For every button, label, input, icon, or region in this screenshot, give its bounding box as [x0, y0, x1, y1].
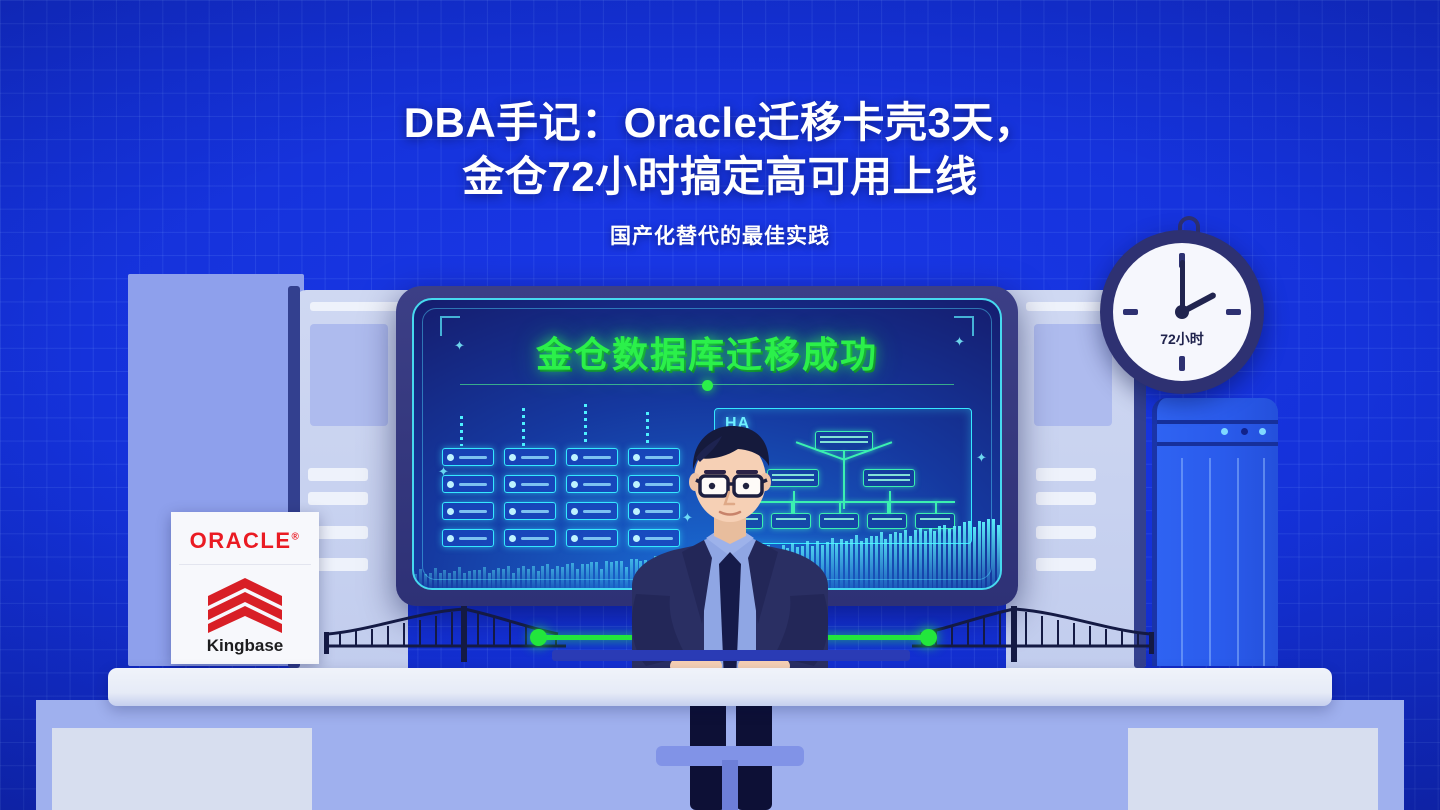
waveform-bar [973, 527, 976, 588]
waveform-bar [453, 571, 456, 588]
drip-line [522, 408, 525, 446]
oracle-wordmark: ORACLE [190, 528, 292, 553]
waveform-bar [458, 567, 461, 588]
waveform-bar [532, 566, 535, 588]
headline-line-2: 金仓72小时搞定高可用上线 [0, 150, 1440, 204]
waveform-bar [488, 573, 491, 588]
waveform-bar [963, 522, 966, 588]
waveform-bar [992, 519, 995, 588]
migration-link-endpoint-left [530, 629, 547, 646]
server-unit [566, 448, 618, 466]
vendor-logo-card: ORACLE® Kingbase [171, 512, 319, 664]
wall-strip [308, 492, 368, 505]
wall-strip [308, 468, 368, 481]
waveform-bar [566, 564, 569, 588]
waveform-bar [507, 566, 510, 588]
server-unit [566, 475, 618, 493]
waveform-bar [419, 569, 422, 588]
waveform-bar [551, 569, 554, 588]
waveform-bar [556, 566, 559, 588]
waveform-bar [595, 562, 598, 588]
desk-top [108, 668, 1332, 706]
waveform-bar [855, 535, 858, 588]
drip-line [584, 404, 587, 446]
waveform-bar [414, 574, 417, 588]
waveform-bar [605, 561, 608, 588]
wall-clock: 72小时 [1100, 230, 1264, 394]
waveform-bar [997, 525, 1000, 588]
sparkle-icon: ✦ [954, 334, 965, 350]
tower-vent [1263, 458, 1265, 666]
sparkle-icon: ✦ [976, 450, 987, 466]
tower-led-icon [1221, 428, 1228, 435]
waveform-bar [865, 538, 868, 588]
waveform-bar [982, 522, 985, 588]
clock-tick [1226, 309, 1241, 315]
waveform-bar [463, 573, 466, 588]
waveform-bar [929, 528, 932, 588]
wall-panel [310, 324, 388, 426]
drip-line [460, 416, 463, 446]
dba-person-illustration [612, 418, 848, 680]
server-unit [504, 475, 556, 493]
waveform-bar [497, 568, 500, 588]
waveform-bar [581, 564, 584, 588]
clock-tick [1123, 309, 1138, 315]
waveform-bar [948, 529, 951, 588]
wall-panel [1034, 324, 1112, 426]
screen-success-title: 金仓数据库迁移成功 [414, 326, 1000, 378]
desk-inset-right [1128, 728, 1378, 810]
waveform-bar [492, 570, 495, 588]
waveform-bar [517, 568, 520, 588]
waveform-bar [600, 569, 603, 588]
waveform-bar [522, 566, 525, 588]
waveform-bar [448, 573, 451, 588]
tower-vent [1181, 458, 1183, 666]
waveform-bar [546, 564, 549, 588]
waveform-bar [537, 571, 540, 588]
tower-led-icon [1241, 428, 1248, 435]
clock-face: 72小时 [1113, 243, 1251, 381]
suspension-bridge-right [900, 606, 1156, 662]
chair-post [722, 760, 738, 810]
server-unit [442, 475, 494, 493]
wall-strip [1036, 468, 1096, 481]
kingbase-logo-text: Kingbase [171, 636, 319, 656]
promo-illustration-canvas: DBA手记：Oracle迁移卡壳3天， 金仓72小时搞定高可用上线 国产化替代的… [0, 0, 1440, 810]
clock-duration-label: 72小时 [1113, 329, 1251, 349]
kingbase-logo-icon [202, 576, 288, 634]
waveform-bar [884, 539, 887, 588]
migration-link-endpoint-right [920, 629, 937, 646]
waveform-bar [561, 567, 564, 588]
waveform-bar [502, 569, 505, 588]
desk-inset-left [52, 728, 312, 810]
waveform-bar [889, 534, 892, 588]
waveform-bar [468, 571, 471, 588]
headline-block: DBA手记：Oracle迁移卡壳3天， 金仓72小时搞定高可用上线 国产化替代的… [0, 96, 1440, 250]
waveform-bar [880, 532, 883, 588]
waveform-bar [933, 531, 936, 588]
tower-band [1157, 420, 1278, 424]
tower-led-icon [1259, 428, 1266, 435]
tower-vent [1237, 458, 1239, 666]
waveform-bar [434, 568, 437, 588]
waveform-bar [443, 570, 446, 588]
waveform-bar [924, 531, 927, 588]
server-unit [442, 448, 494, 466]
waveform-bar [870, 536, 873, 588]
ha-node-tier2 [863, 469, 915, 487]
keyboard[interactable] [552, 650, 910, 661]
waveform-bar [909, 536, 912, 588]
screen-title-dot [702, 380, 713, 391]
waveform-bar [478, 570, 481, 588]
clock-tick [1179, 356, 1185, 371]
waveform-bar [899, 533, 902, 588]
oracle-logo-text: ORACLE® [171, 528, 319, 554]
waveform-bar [586, 564, 589, 588]
server-tower [1152, 398, 1278, 666]
waveform-bar [914, 530, 917, 588]
headline-line-1: DBA手记：Oracle迁移卡壳3天， [0, 96, 1440, 150]
waveform-bar [894, 532, 897, 588]
waveform-bar [919, 528, 922, 588]
waveform-bar [850, 539, 853, 588]
headline-subtitle: 国产化替代的最佳实践 [0, 220, 1440, 250]
waveform-bar [953, 526, 956, 588]
waveform-bar [943, 525, 946, 588]
waveform-bar [860, 541, 863, 588]
waveform-bar [473, 570, 476, 588]
waveform-bar [512, 573, 515, 588]
tower-band [1157, 442, 1278, 446]
waveform-bar [978, 521, 981, 588]
wall-strip [1036, 492, 1096, 505]
waveform-bar [541, 566, 544, 588]
wall-strip [1036, 558, 1096, 571]
waveform-bar [904, 530, 907, 588]
oracle-registered-mark: ® [292, 532, 301, 543]
sparkle-icon: ✦ [454, 338, 465, 354]
waveform-bar [958, 526, 961, 588]
waveform-bar [527, 569, 530, 588]
logo-divider [179, 564, 311, 565]
wall-strip [310, 302, 402, 311]
waveform-bar [938, 526, 941, 588]
waveform-bar [429, 573, 432, 588]
waveform-bar [590, 562, 593, 588]
waveform-bar [968, 521, 971, 588]
wall-strip [1036, 526, 1096, 539]
clock-pivot [1175, 305, 1189, 319]
waveform-bar [987, 519, 990, 588]
tower-vent [1209, 458, 1211, 666]
waveform-bar [424, 574, 427, 588]
waveform-bar [439, 573, 442, 588]
waveform-bar [875, 536, 878, 588]
waveform-bar [571, 563, 574, 588]
server-unit [504, 448, 556, 466]
waveform-bar [483, 567, 486, 588]
waveform-bar [576, 569, 579, 588]
